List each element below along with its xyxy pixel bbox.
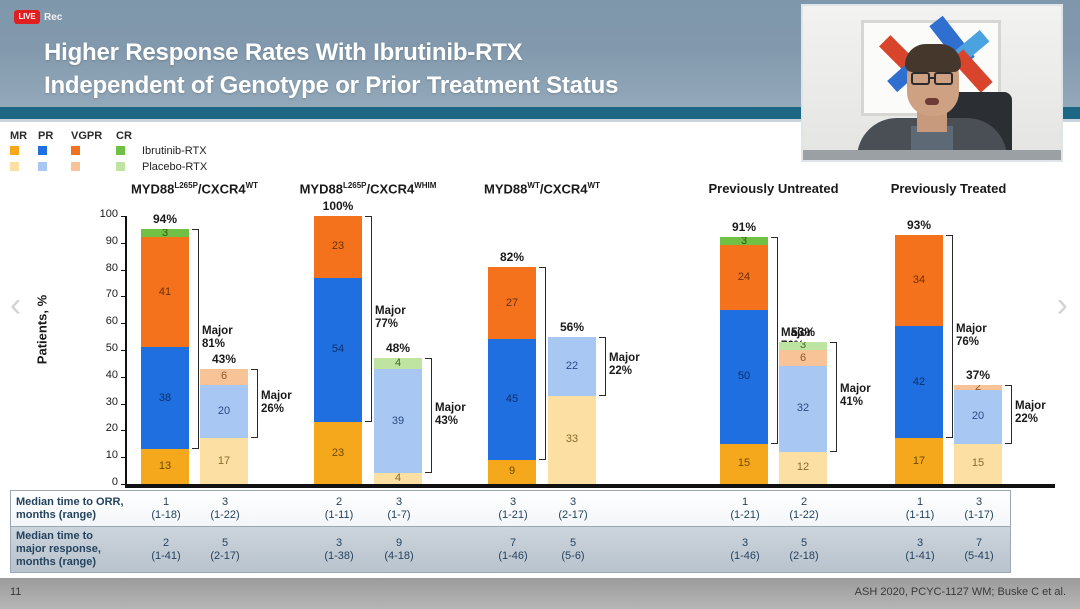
segment-vgpr: 24 — [720, 245, 768, 309]
bar-1-ibrutinib-rtx[interactable]: 3413813 — [141, 229, 189, 484]
bar-total-label: 82% — [477, 250, 547, 264]
segment-value: 17 — [913, 456, 925, 467]
bar-total-label: 37% — [943, 368, 1013, 382]
swatch-cr-placebo — [116, 162, 125, 171]
table-cell: 3(1-17) — [941, 496, 1017, 522]
segment-value: 9 — [509, 466, 515, 477]
title-line-1: Higher Response Rates With Ibrutinib-RTX — [44, 36, 764, 69]
bar-total-label: 94% — [130, 212, 200, 226]
segment-value: 3 — [800, 342, 806, 350]
swatch-mr-placebo — [10, 162, 19, 171]
segment-vgpr: 27 — [488, 267, 536, 339]
presenter-video-tile[interactable] — [801, 4, 1063, 162]
major-response-bracket — [830, 342, 837, 452]
group-title-5: Previously Treated — [819, 181, 1079, 196]
segment-pr: 50 — [720, 310, 768, 444]
cell-range: (5-6) — [535, 550, 611, 563]
segment-vgpr: 34 — [895, 235, 943, 326]
segment-value: 41 — [159, 287, 171, 298]
major-response-label: Major43% — [435, 402, 491, 428]
table-cell: 3(2-17) — [535, 496, 611, 522]
major-word: Major — [1015, 400, 1071, 413]
y-tick-label: 40 — [88, 369, 118, 381]
segment-value: 15 — [738, 458, 750, 469]
cell-median: 2 — [766, 496, 842, 509]
major-response-bracket — [1005, 385, 1012, 444]
cell-range: (1-17) — [941, 509, 1017, 522]
major-response-bracket — [365, 216, 372, 422]
chart-legend: MR PR VGPR CR Ibrutinib-RTX Placebo-RTX — [10, 130, 207, 174]
segment-pr: 20 — [200, 385, 248, 439]
cell-range: (4-18) — [361, 550, 437, 563]
segment-value: 33 — [566, 434, 578, 445]
major-response-bracket — [599, 337, 606, 396]
cell-median: 9 — [361, 537, 437, 550]
segment-value: 4 — [395, 358, 401, 369]
segment-mr: 17 — [200, 438, 248, 484]
table-cells-orr: 1(1-18)3(1-22)2(1-11)3(1-7)3(1-21)3(2-17… — [139, 491, 1010, 526]
segment-mr: 13 — [141, 449, 189, 484]
major-word: Major — [261, 390, 317, 403]
major-response-bracket — [946, 235, 953, 439]
table-cell: 5(5-6) — [535, 537, 611, 563]
legend-header-cr: CR — [116, 130, 156, 142]
major-value: 77% — [375, 318, 431, 331]
major-value: 22% — [609, 365, 665, 378]
table-cell: 3(1-7) — [361, 496, 437, 522]
cell-median: 5 — [766, 537, 842, 550]
y-axis-label: Patients, % — [35, 270, 50, 390]
bar-4-ibrutinib-rtx[interactable]: 3245015 — [720, 237, 768, 484]
cell-median: 3 — [535, 496, 611, 509]
table-cell: 2(1-22) — [766, 496, 842, 522]
major-response-label: Major41% — [840, 383, 896, 409]
recording-indicator: LIVE Rec — [14, 10, 62, 24]
major-value: 81% — [202, 338, 258, 351]
legend-label-placebo: Placebo-RTX — [142, 161, 207, 173]
bar-5-placebo-rtx[interactable]: 22015 — [954, 385, 1002, 484]
table-cell: 9(4-18) — [361, 537, 437, 563]
bar-3-placebo-rtx[interactable]: 2233 — [548, 337, 596, 484]
segment-pr: 32 — [779, 366, 827, 452]
major-value: 26% — [261, 403, 317, 416]
table-row: Median time to ORR, months (range) 1(1-1… — [11, 491, 1010, 526]
y-axis-line — [125, 216, 127, 486]
table-row: Median time to major response, months (r… — [11, 526, 1010, 572]
presenter-video-image — [803, 6, 1061, 160]
y-tick-label: 90 — [88, 235, 118, 247]
segment-value: 13 — [159, 461, 171, 472]
major-word: Major — [435, 402, 491, 415]
segment-value: 22 — [566, 361, 578, 372]
bar-total-label: 93% — [884, 218, 954, 232]
swatch-vgpr-placebo — [71, 162, 80, 171]
major-value: 22% — [1015, 413, 1071, 426]
table-row-label-major: Median time to major response, months (r… — [11, 527, 139, 572]
y-tick-label: 30 — [88, 396, 118, 408]
y-tick-label: 60 — [88, 315, 118, 327]
table-row-label-orr: Median time to ORR, months (range) — [11, 491, 139, 526]
y-tick-label: 100 — [88, 208, 118, 220]
segment-value: 50 — [738, 371, 750, 382]
segment-value: 34 — [913, 275, 925, 286]
bar-total-label: 56% — [537, 320, 607, 334]
group-title-3: MYD88WT/CXCR4WT — [412, 181, 672, 196]
legend-header-pr: PR — [38, 130, 71, 142]
segment-mr: 23 — [314, 422, 362, 484]
cell-median: 5 — [187, 537, 263, 550]
major-value: 76% — [956, 336, 1012, 349]
major-word: Major — [956, 323, 1012, 336]
major-response-label: Major26% — [261, 390, 317, 416]
y-tick-label: 50 — [88, 342, 118, 354]
segment-value: 27 — [506, 298, 518, 309]
swatch-mr-ibrutinib — [10, 146, 19, 155]
legend-row-placebo: Placebo-RTX — [10, 160, 207, 174]
bar-total-label: 53% — [768, 325, 838, 339]
major-response-bracket — [425, 358, 432, 473]
segment-pr: 39 — [374, 369, 422, 474]
y-tick-label: 70 — [88, 288, 118, 300]
legend-header-vgpr: VGPR — [71, 130, 116, 142]
major-response-label: Major77% — [375, 305, 431, 331]
bar-5-ibrutinib-rtx[interactable]: 344217 — [895, 235, 943, 484]
swatch-cr-ibrutinib — [116, 146, 125, 155]
major-word: Major — [840, 383, 896, 396]
segment-mr: 15 — [954, 444, 1002, 484]
major-value: 43% — [435, 415, 491, 428]
legend-header-mr: MR — [10, 130, 38, 142]
segment-value: 23 — [332, 448, 344, 459]
bar-total-label: 91% — [709, 220, 779, 234]
cell-median: 3 — [941, 496, 1017, 509]
major-response-bracket — [251, 369, 258, 439]
rec-label: Rec — [44, 12, 62, 23]
segment-value: 3 — [162, 229, 168, 237]
segment-vgpr: 23 — [314, 216, 362, 278]
title-line-2: Independent of Genotype or Prior Treatme… — [44, 69, 764, 102]
bar-total-label: 43% — [189, 352, 259, 366]
segment-value: 6 — [221, 371, 227, 382]
table-cells-major: 2(1-41)5(2-17)3(1-38)9(4-18)7(1-46)5(5-6… — [139, 527, 1010, 572]
x-axis-line — [125, 484, 1055, 488]
cell-range: (1-7) — [361, 509, 437, 522]
cell-range: (2-18) — [766, 550, 842, 563]
segment-value: 3 — [741, 237, 747, 245]
swatch-pr-placebo — [38, 162, 47, 171]
segment-value: 4 — [395, 473, 401, 484]
page-title: Higher Response Rates With Ibrutinib-RTX… — [44, 36, 764, 102]
segment-value: 20 — [972, 411, 984, 422]
segment-value: 24 — [738, 272, 750, 283]
bar-4-placebo-rtx[interactable]: 363212 — [779, 342, 827, 484]
major-word: Major — [375, 305, 431, 318]
stacked-bar-chart: Patients, % 1009080706050403020100 34138… — [0, 200, 1080, 492]
table-cell: 5(2-17) — [187, 537, 263, 563]
bar-2-ibrutinib-rtx[interactable]: 235423 — [314, 216, 362, 484]
major-value: 41% — [840, 396, 896, 409]
major-response-bracket — [539, 267, 546, 460]
major-response-label: Major22% — [609, 352, 665, 378]
segment-value: 38 — [159, 393, 171, 404]
segment-value: 20 — [218, 406, 230, 417]
table-cell: 3(1-22) — [187, 496, 263, 522]
major-response-label: Major76% — [956, 323, 1012, 349]
segment-cr: 3 — [720, 237, 768, 245]
glasses-icon — [911, 72, 930, 85]
segment-value: 42 — [913, 377, 925, 388]
segment-vgpr: 6 — [200, 369, 248, 385]
segment-vgpr: 41 — [141, 237, 189, 347]
presentation-slide: LIVE Rec Higher Response Rates With Ibru… — [0, 0, 1080, 609]
cell-median: 3 — [361, 496, 437, 509]
table-cell: 7(5-41) — [941, 537, 1017, 563]
swatch-pr-ibrutinib — [38, 146, 47, 155]
segment-value: 23 — [332, 241, 344, 252]
next-slide-icon[interactable]: › — [1057, 286, 1068, 325]
segment-value: 6 — [800, 353, 806, 364]
major-response-bracket — [192, 229, 199, 449]
bar-3-ibrutinib-rtx[interactable]: 27459 — [488, 267, 536, 484]
bar-total-label: 100% — [303, 199, 373, 213]
y-tick-label: 20 — [88, 422, 118, 434]
segment-vgpr: 6 — [779, 350, 827, 366]
legend-label-ibrutinib: Ibrutinib-RTX — [142, 145, 207, 157]
live-badge: LIVE — [14, 10, 40, 24]
cell-median: 3 — [187, 496, 263, 509]
page-number: 11 — [10, 586, 21, 598]
summary-table: Median time to ORR, months (range) 1(1-1… — [10, 490, 1011, 573]
y-tick-label: 10 — [88, 449, 118, 461]
bar-2-placebo-rtx[interactable]: 4394 — [374, 358, 422, 484]
major-response-label: Major22% — [1015, 400, 1071, 426]
segment-value: 15 — [972, 458, 984, 469]
cell-range: (2-17) — [535, 509, 611, 522]
slide-footer: 11 ASH 2020, PCYC-1127 WM; Buske C et al… — [0, 578, 1080, 609]
major-word: Major — [202, 325, 258, 338]
segment-mr: 33 — [548, 396, 596, 484]
bar-total-label: 48% — [363, 341, 433, 355]
legend-row-ibrutinib: Ibrutinib-RTX — [10, 144, 207, 158]
bar-1-placebo-rtx[interactable]: 62017 — [200, 369, 248, 484]
segment-pr: 20 — [954, 390, 1002, 444]
segment-mr: 15 — [720, 444, 768, 484]
segment-cr: 3 — [779, 342, 827, 350]
major-word: Major — [609, 352, 665, 365]
segment-mr: 17 — [895, 438, 943, 484]
segment-cr: 4 — [374, 358, 422, 369]
cell-range: (2-17) — [187, 550, 263, 563]
segment-pr: 38 — [141, 347, 189, 449]
segment-value: 12 — [797, 462, 809, 473]
previous-slide-icon[interactable]: ‹ — [10, 286, 21, 325]
swatch-vgpr-ibrutinib — [71, 146, 80, 155]
table-cell: 5(2-18) — [766, 537, 842, 563]
citation-reference: ASH 2020, PCYC-1127 WM; Buske C et al. — [855, 586, 1066, 598]
y-tick-label: 80 — [88, 262, 118, 274]
segment-value: 54 — [332, 344, 344, 355]
segment-pr: 45 — [488, 339, 536, 460]
segment-value: 45 — [506, 394, 518, 405]
segment-value: 32 — [797, 403, 809, 414]
segment-pr: 42 — [895, 326, 943, 439]
segment-cr: 3 — [141, 229, 189, 237]
segment-pr: 54 — [314, 278, 362, 423]
cell-median: 7 — [941, 537, 1017, 550]
segment-mr: 9 — [488, 460, 536, 484]
cell-median: 5 — [535, 537, 611, 550]
legend-headers: MR PR VGPR CR — [10, 130, 207, 142]
cell-range: (5-41) — [941, 550, 1017, 563]
cell-range: (1-22) — [766, 509, 842, 522]
major-response-label: Major81% — [202, 325, 258, 351]
cell-range: (1-22) — [187, 509, 263, 522]
segment-mr: 12 — [779, 452, 827, 484]
y-tick-label: 0 — [88, 476, 118, 488]
segment-value: 39 — [392, 416, 404, 427]
major-response-bracket — [771, 237, 778, 443]
segment-mr: 4 — [374, 473, 422, 484]
segment-pr: 22 — [548, 337, 596, 396]
segment-value: 17 — [218, 456, 230, 467]
